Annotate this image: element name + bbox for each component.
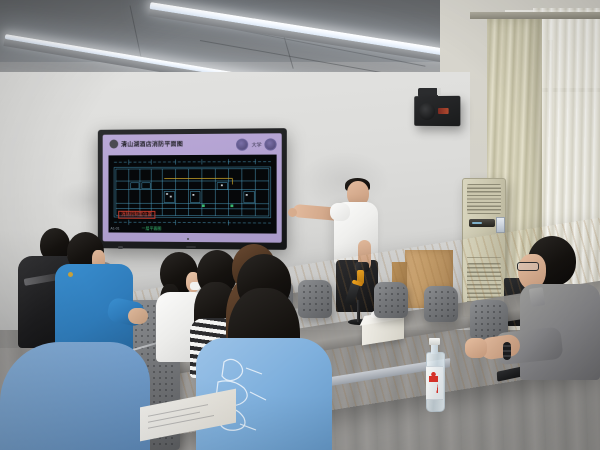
cad-drawing: 消防控制室位置 一层平面图 A1-01 <box>108 155 276 234</box>
bullet-marker-icon <box>109 140 118 149</box>
attendee-logo-icon <box>68 272 73 277</box>
chair-perforation <box>473 303 505 337</box>
bottle-label <box>426 366 443 400</box>
presenter-hand <box>288 208 297 217</box>
attendee-hand <box>465 338 487 358</box>
bottle-brand-mark-icon <box>429 371 438 393</box>
speaker-badge <box>438 108 449 114</box>
ac-control-panel[interactable] <box>469 219 495 227</box>
water-bottle <box>424 338 445 410</box>
display-brand-logo <box>186 246 196 248</box>
attendee-shoulder <box>0 342 150 450</box>
wall-speaker <box>414 96 460 126</box>
chair-backrest <box>374 282 408 318</box>
chair-backrest <box>298 280 332 318</box>
cad-label: 一层平面图 <box>142 226 162 232</box>
partner-seal-icon <box>264 138 276 150</box>
bottle-cap <box>429 338 440 345</box>
slide-logo-group: 大学 <box>236 138 276 150</box>
chair-perforation <box>377 285 405 315</box>
chair-perforation <box>427 289 455 319</box>
institution-seal-icon <box>236 139 248 151</box>
ac-upper-vent <box>467 184 501 214</box>
slide-header: 清山湖酒店消防平面图 大学 <box>103 133 282 154</box>
bottle-neck <box>431 344 438 354</box>
display-ir-receiver-icon <box>118 246 123 249</box>
ac-energy-label <box>496 217 505 233</box>
speaker-conduit <box>437 88 441 95</box>
ac-display-led <box>472 222 482 224</box>
cad-sheet-number: A1-01 <box>110 227 119 231</box>
presenter-sleeve <box>330 203 350 221</box>
speaker-cone-icon <box>419 103 435 120</box>
wall-smudge <box>300 150 390 210</box>
microphone-stem <box>357 300 360 322</box>
beaded-bracelet-icon <box>503 342 511 360</box>
display-bezel: 清山湖酒店消防平面图 大学 <box>103 133 282 242</box>
display-sensor-icon <box>187 238 189 240</box>
cad-annotation: 消防控制室位置 <box>118 211 155 219</box>
attendee-forearm <box>128 308 148 324</box>
display-screen[interactable]: 清山湖酒店消防平面图 大学 <box>103 133 282 242</box>
meeting-room-photo: 清山湖酒店消防平面图 大学 <box>0 0 600 450</box>
paper-text-line <box>148 415 214 429</box>
polo-placket <box>529 287 545 307</box>
slide-title: 清山湖酒店消防平面图 <box>121 139 183 148</box>
glasses-icon <box>517 262 539 271</box>
cad-svg <box>108 155 276 234</box>
curtain-rod <box>470 12 600 19</box>
chair-backrest <box>424 286 458 322</box>
institution-seal-label: 大学 <box>252 141 262 148</box>
chair-perforation <box>301 283 329 315</box>
wall-display[interactable]: 清山湖酒店消防平面图 大学 <box>98 128 287 250</box>
